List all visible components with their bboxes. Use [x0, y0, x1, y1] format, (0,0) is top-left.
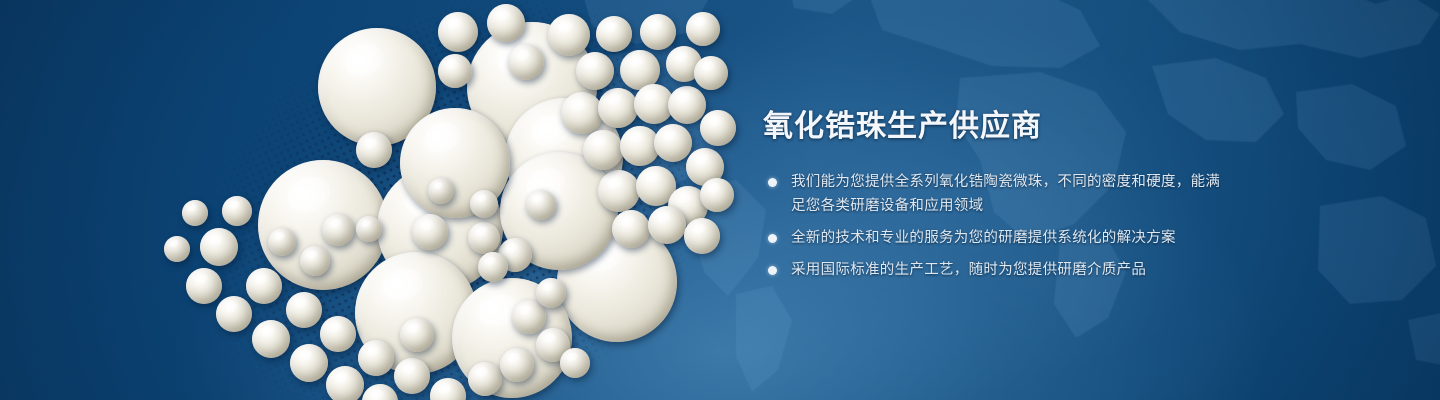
bead	[438, 12, 478, 52]
bead	[526, 190, 556, 220]
bead	[536, 278, 566, 308]
bead	[182, 200, 208, 226]
bead	[438, 54, 472, 88]
bead	[356, 216, 382, 242]
zirconia-bead-cluster	[0, 0, 760, 400]
banner-copy: 氧化锆珠生产供应商 我们能为您提供全系列氧化锆陶瓷微珠，不同的密度和硬度，能满足…	[763, 108, 1233, 290]
bead	[222, 196, 252, 226]
bullet-dot-icon	[768, 234, 777, 243]
bullet-dot-icon	[768, 266, 777, 275]
list-item-label: 我们能为您提供全系列氧化锆陶瓷微珠，不同的密度和硬度，能满足您各类研磨设备和应用…	[791, 174, 1220, 214]
bead	[430, 378, 466, 400]
bead	[468, 222, 500, 254]
bead	[322, 214, 354, 246]
list-item: 全新的技术和专业的服务为您的研磨提供系统化的解决方案	[763, 226, 1233, 250]
bead	[252, 320, 290, 358]
bead	[598, 88, 638, 128]
bead	[200, 228, 238, 266]
bead	[561, 92, 603, 134]
bead	[598, 170, 640, 212]
bead	[394, 358, 430, 394]
bead	[668, 86, 706, 124]
bead	[216, 296, 252, 332]
bead	[268, 228, 296, 256]
bead	[686, 12, 720, 46]
bead	[290, 344, 328, 382]
bead	[164, 236, 190, 262]
bead	[300, 246, 330, 276]
bead	[548, 14, 590, 56]
bead	[358, 340, 394, 376]
bead	[508, 44, 544, 80]
bead	[694, 56, 728, 90]
bead	[500, 348, 534, 382]
bead	[326, 366, 364, 400]
bead	[412, 214, 448, 250]
bead	[576, 52, 614, 90]
bead	[487, 4, 525, 42]
bullet-dot-icon	[768, 178, 777, 187]
list-item: 采用国际标准的生产工艺，随时为您提供研磨介质产品	[763, 258, 1233, 282]
bead	[596, 16, 632, 52]
bead	[700, 178, 734, 212]
hero-banner: 氧化锆珠生产供应商 我们能为您提供全系列氧化锆陶瓷微珠，不同的密度和硬度，能满足…	[0, 0, 1440, 400]
bead	[320, 316, 356, 352]
bead	[428, 178, 454, 204]
bead	[286, 292, 322, 328]
bead	[648, 206, 686, 244]
list-item-label: 采用国际标准的生产工艺，随时为您提供研磨介质产品	[791, 262, 1146, 278]
bead	[468, 362, 502, 396]
bead	[612, 210, 650, 248]
bead	[470, 190, 498, 218]
bead	[654, 124, 692, 162]
bead	[362, 384, 398, 400]
bead	[640, 14, 676, 50]
bead	[478, 252, 508, 282]
bead	[186, 268, 222, 304]
bead	[356, 132, 392, 168]
bead	[246, 268, 282, 304]
bead	[583, 130, 623, 170]
bead	[684, 218, 720, 254]
bead	[400, 318, 434, 352]
feature-list: 我们能为您提供全系列氧化锆陶瓷微珠，不同的密度和硬度，能满足您各类研磨设备和应用…	[763, 170, 1233, 282]
bead	[560, 348, 590, 378]
page-title: 氧化锆珠生产供应商	[763, 108, 1233, 146]
bead	[700, 110, 736, 146]
list-item-label: 全新的技术和专业的服务为您的研磨提供系统化的解决方案	[791, 230, 1176, 246]
bead	[512, 300, 546, 334]
list-item: 我们能为您提供全系列氧化锆陶瓷微珠，不同的密度和硬度，能满足您各类研磨设备和应用…	[763, 170, 1233, 218]
